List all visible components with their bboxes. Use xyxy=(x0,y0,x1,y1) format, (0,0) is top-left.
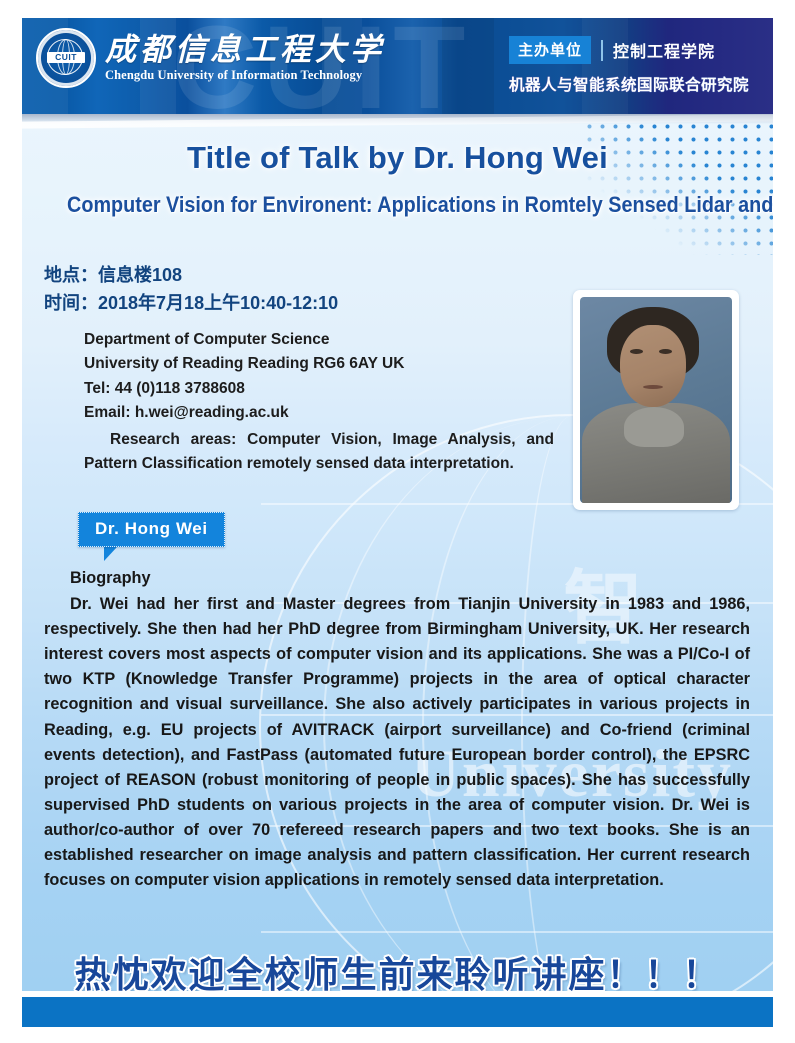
organizer-institute: 机器人与智能系统国际联合研究院 xyxy=(509,73,749,95)
contact-tel: Tel: 44 (0)118 3788608 xyxy=(84,377,554,401)
time-value: 2018年7月18上午10:40-12:10 xyxy=(98,293,338,313)
university-name-en: Chengdu University of Information Techno… xyxy=(105,68,385,83)
location-label: 地点： xyxy=(44,265,98,285)
university-logo: CUIT 成都信息工程大学 Chengdu University of Info… xyxy=(36,28,385,88)
event-time: 时间：2018年7月18上午10:40-12:10 xyxy=(44,290,338,318)
organizer-block: 主办单位 控制工程学院 机器人与智能系统国际联合研究院 xyxy=(509,36,749,95)
speaker-photo xyxy=(580,297,732,503)
speaker-contact: Department of Computer Science Universit… xyxy=(84,328,554,477)
poster-header: CUIT CUIT 成都信息工程大学 Chengdu University of… xyxy=(22,18,773,114)
event-info: 地点：信息楼108 时间：2018年7月18上午10:40-12:10 xyxy=(44,262,338,318)
speaker-name-badge: Dr. Hong Wei xyxy=(78,512,225,561)
speaker-name-label: Dr. Hong Wei xyxy=(78,512,225,547)
photo-eye-right xyxy=(659,349,672,354)
organizer-row: 主办单位 控制工程学院 xyxy=(509,36,749,64)
organizer-department: 控制工程学院 xyxy=(613,38,715,62)
location-value: 信息楼108 xyxy=(98,265,182,285)
welcome-message: 热忱欢迎全校师生前来聆听讲座！！！ xyxy=(22,946,773,991)
university-name-cn: 成都信息工程大学 xyxy=(105,34,385,65)
university-seal-icon: CUIT xyxy=(36,28,96,88)
contact-research-areas: Research areas: Computer Vision, Image A… xyxy=(84,428,554,477)
seal-label: CUIT xyxy=(47,52,85,63)
speaker-photo-frame xyxy=(573,290,739,510)
footer-bar xyxy=(22,997,773,1027)
talk-title: Title of Talk by Dr. Hong Wei xyxy=(22,140,773,176)
poster-root: CUIT CUIT 成都信息工程大学 Chengdu University of… xyxy=(0,0,795,1043)
photo-collar xyxy=(624,407,684,447)
time-label: 时间： xyxy=(44,293,98,313)
biography-heading: Biography xyxy=(44,566,750,591)
university-name-block: 成都信息工程大学 Chengdu University of Informati… xyxy=(105,34,385,83)
photo-eye-left xyxy=(630,349,643,354)
biography-section: Biography Dr. Wei had her first and Mast… xyxy=(44,566,750,893)
photo-face xyxy=(620,325,686,407)
talk-subtitle: Computer Vision for Environent: Applicat… xyxy=(67,192,728,218)
badge-tail-icon xyxy=(104,547,117,561)
event-location: 地点：信息楼108 xyxy=(44,262,338,290)
biography-text: Dr. Wei had her first and Master degrees… xyxy=(44,592,750,893)
contact-email[interactable]: Email: h.wei@reading.ac.uk xyxy=(84,401,554,425)
poster-body: 智 University of Inf Title of Talk by Dr.… xyxy=(22,114,773,991)
contact-university: University of Reading Reading RG6 6AY UK xyxy=(84,352,554,376)
contact-department: Department of Computer Science xyxy=(84,328,554,352)
photo-mouth xyxy=(643,385,663,389)
organizer-divider xyxy=(601,40,603,61)
organizer-tag: 主办单位 xyxy=(509,36,591,64)
